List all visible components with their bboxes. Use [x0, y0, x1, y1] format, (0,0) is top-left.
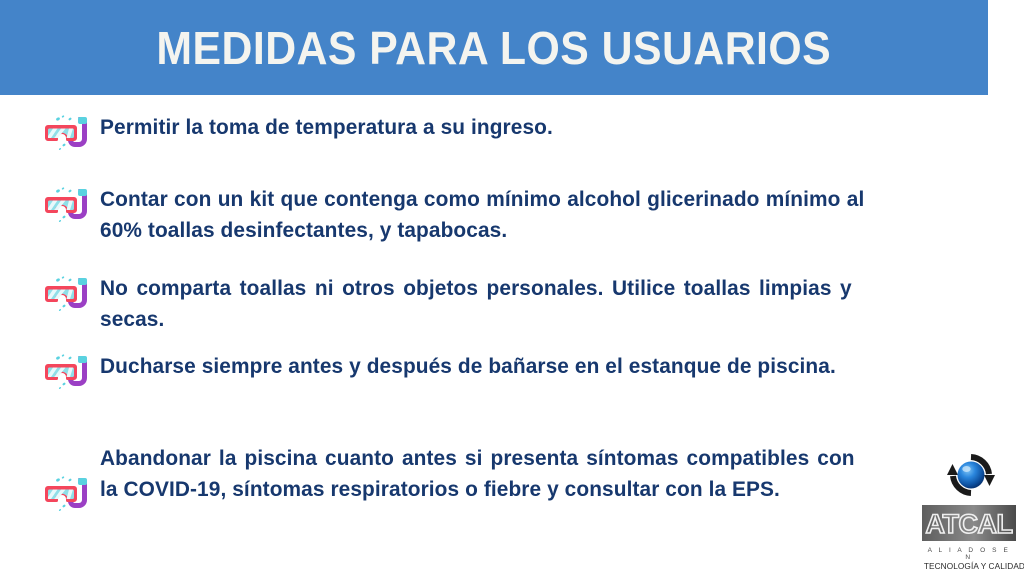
page-title: MEDIDAS PARA LOS USUARIOS: [157, 25, 832, 71]
atcal-tagline: A L I A D O S E N TECNOLOGÍA Y CALIDAD S…: [922, 547, 1016, 572]
list-item: No comparta toallas ni otros objetos per…: [40, 273, 875, 334]
atcal-cycle-sphere-icon: [922, 447, 1020, 503]
title-banner: MEDIDAS PARA LOS USUARIOS: [0, 0, 988, 95]
list-item-text: Abandonar la piscina cuanto antes si pre…: [100, 443, 855, 504]
measures-list: Permitir la toma de temperatura a su ing…: [0, 95, 1024, 576]
snorkel-mask-icon: [40, 351, 92, 393]
snorkel-mask-icon: [40, 184, 92, 226]
list-item-text: Ducharse siempre antes y después de baña…: [100, 351, 855, 382]
atcal-logo: ATCAL A L I A D O S E N TECNOLOGÍA Y CAL…: [922, 447, 1020, 571]
list-item: Permitir la toma de temperatura a su ing…: [40, 112, 660, 154]
list-item: Ducharse siempre antes y después de baña…: [40, 351, 878, 393]
atcal-wordmark: ATCAL: [922, 505, 1016, 541]
atcal-tagline-line-2: TECNOLOGÍA Y CALIDAD S.A.S.: [924, 561, 1014, 571]
snorkel-mask-icon: [40, 473, 92, 515]
list-item: Abandonar la piscina cuanto antes si pre…: [40, 443, 878, 515]
snorkel-mask-icon: [40, 112, 92, 154]
atcal-tagline-line-1: A L I A D O S E N: [922, 547, 1016, 561]
snorkel-mask-icon: [40, 273, 92, 315]
list-item-text: Permitir la toma de temperatura a su ing…: [100, 112, 643, 143]
list-item: Contar con un kit que contenga como míni…: [40, 184, 888, 245]
list-item-text: Contar con un kit que contenga como míni…: [100, 184, 864, 245]
svg-text:ATCAL: ATCAL: [926, 509, 1013, 539]
list-item-text: No comparta toallas ni otros objetos per…: [100, 273, 852, 334]
